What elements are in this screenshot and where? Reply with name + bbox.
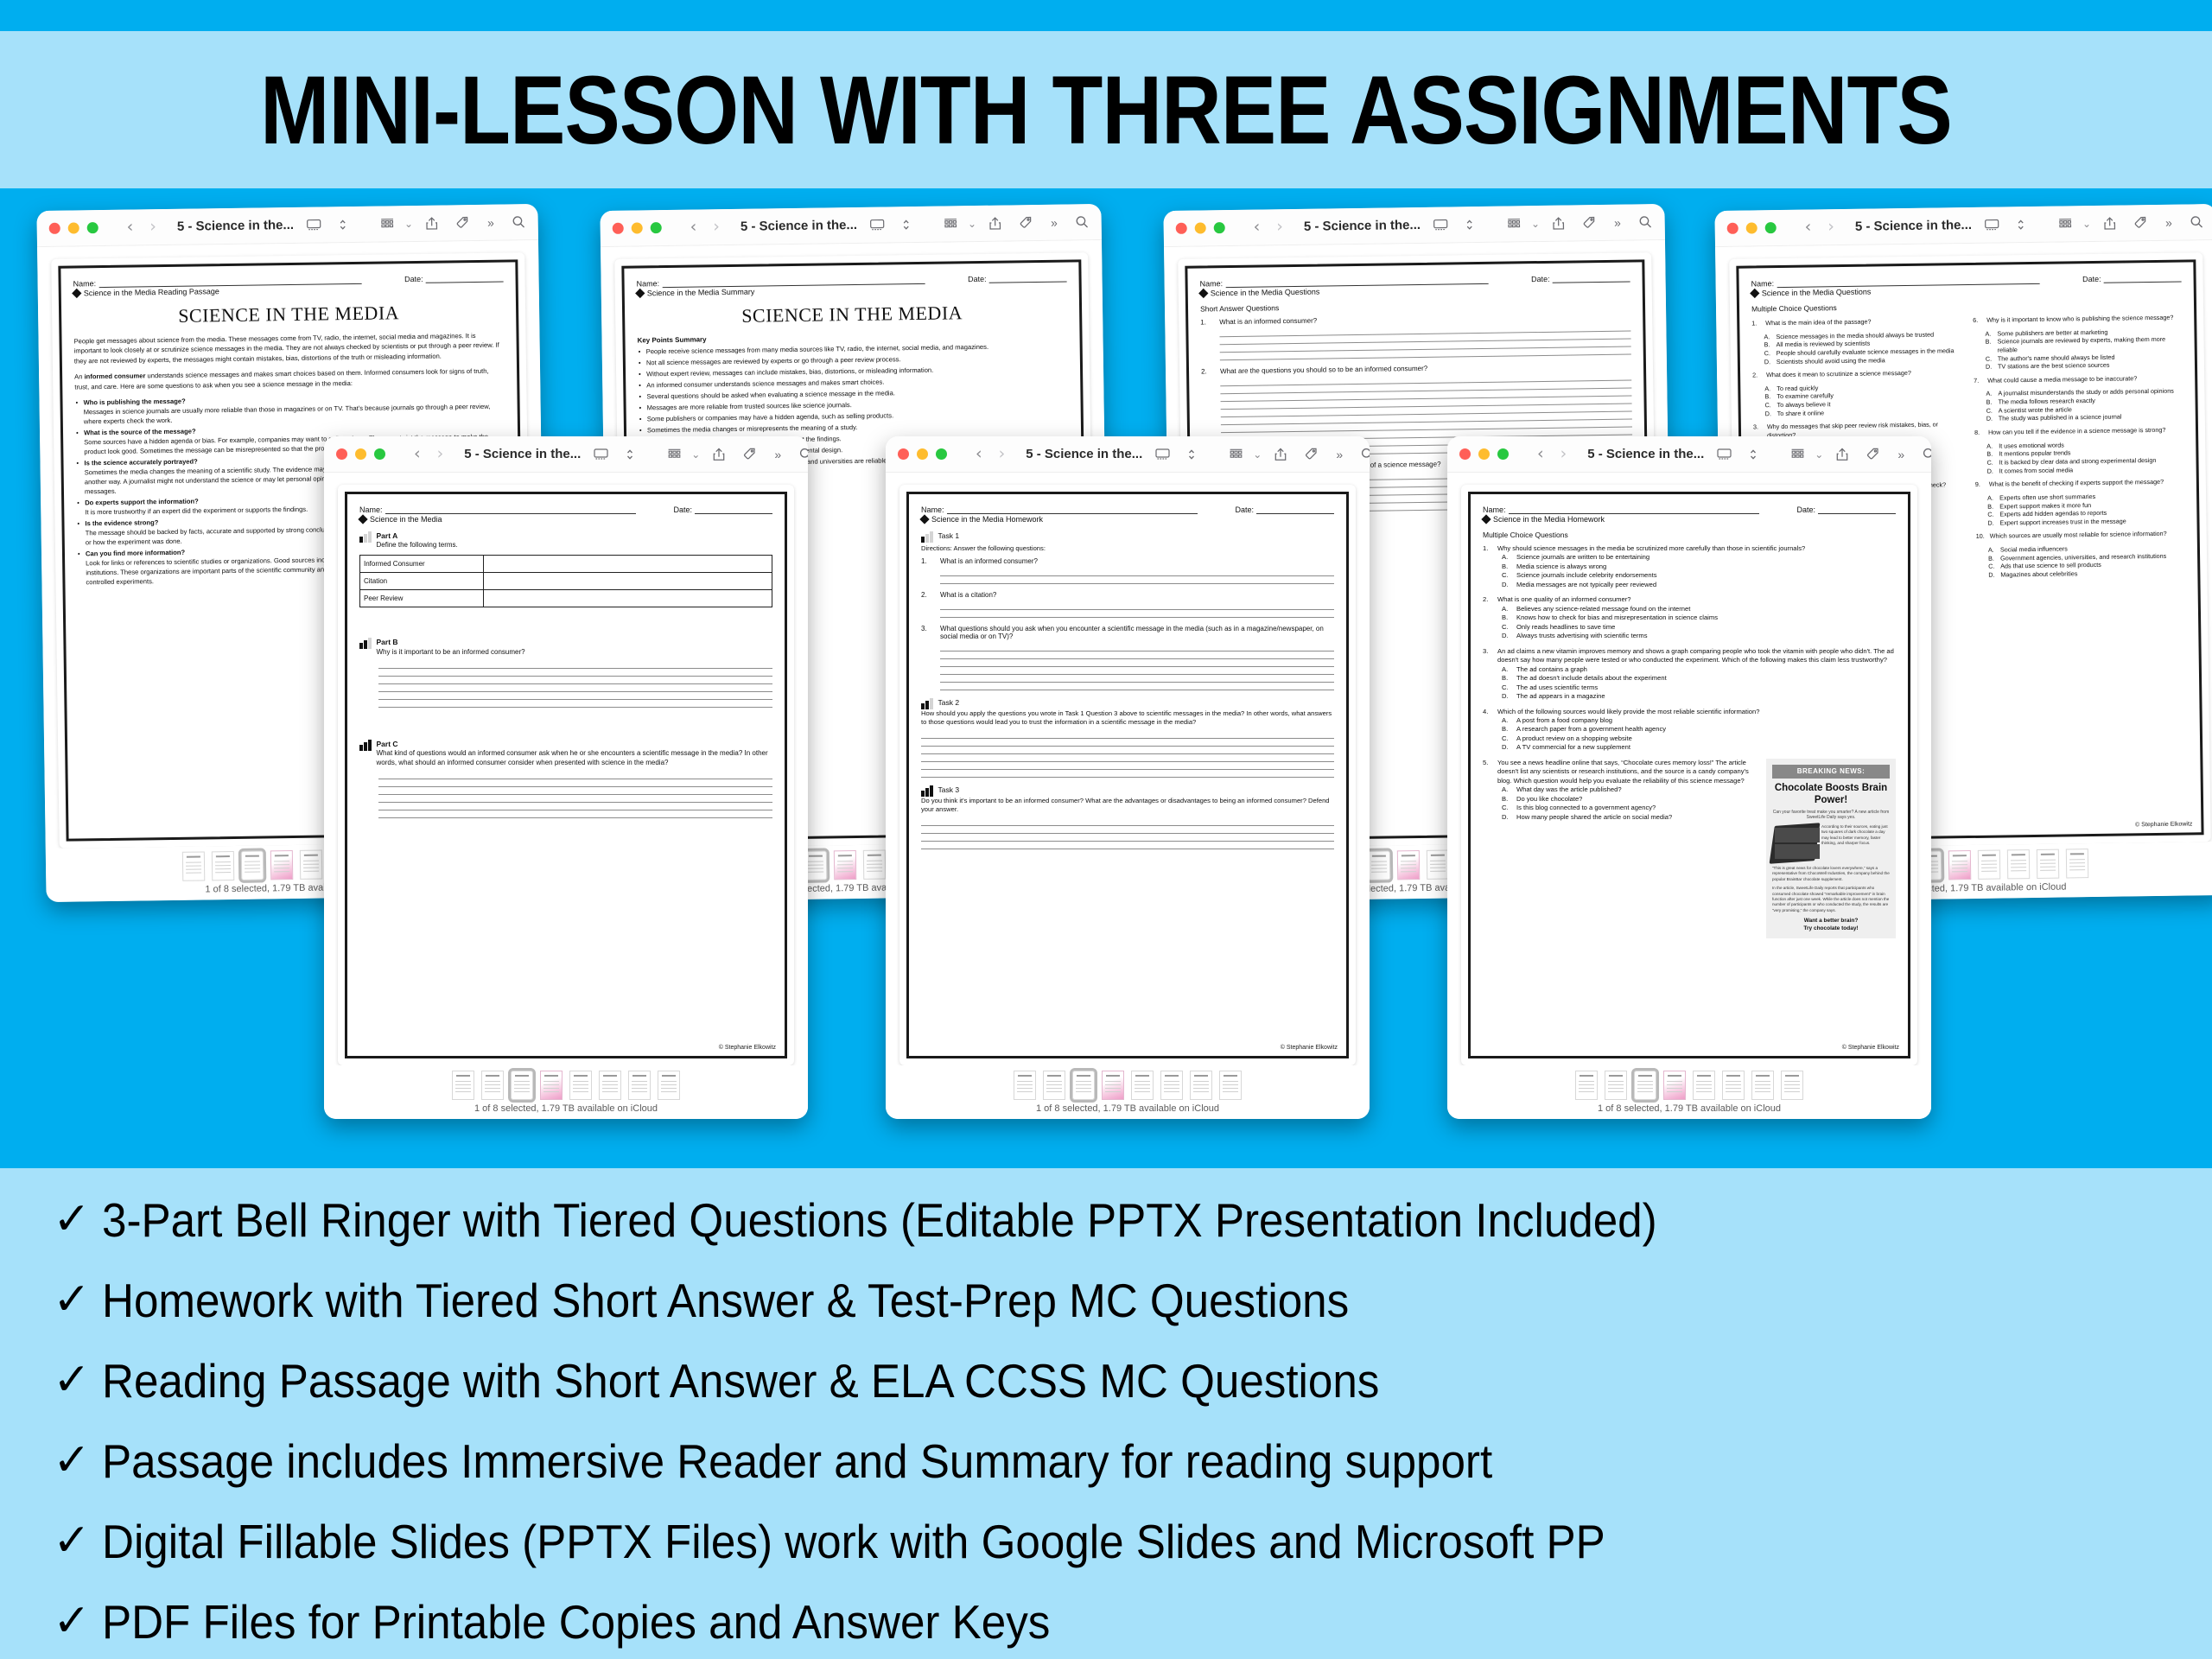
tag-icon[interactable] [451,216,474,229]
page-thumbnail[interactable] [2066,849,2088,878]
news-body-2: “This is great news for chocolate lovers… [1772,866,1890,882]
back-button[interactable]: ‹ [686,219,702,235]
mc-option: B.The ad doesn't include details about t… [1483,674,1896,683]
page-thumbnail[interactable] [300,850,322,880]
part-c-heading: Part CWhat kind of questions would an in… [359,740,772,768]
forward-button[interactable]: › [1823,219,1839,235]
page-shadow: Name:Date:Science in the MediaPart ADefi… [338,485,794,1065]
diamond-bullet-icon [72,289,81,298]
window-statusbar: 1 of 8 selected, 1.79 TB available on iC… [1447,1065,1931,1119]
term-label: Informed Consumer [360,556,484,573]
page-thumbnail[interactable] [241,850,264,880]
page-thumbnail[interactable] [1014,1071,1036,1100]
chevron-down-icon[interactable]: ⌄ [1531,218,1540,230]
check-icon: ✓ [41,1510,102,1571]
page-thumbnail[interactable] [1781,1071,1803,1100]
page-thumbnail[interactable] [1427,850,1449,880]
page-thumbnail[interactable] [1102,1071,1124,1100]
question-item: 1.What is an informed consumer? [921,557,1334,565]
answer-lines [378,772,772,818]
back-button[interactable]: ‹ [1249,219,1265,235]
page-thumbnail[interactable] [1190,1071,1212,1100]
maximize-button[interactable] [374,448,385,460]
markup-toolbar-icon[interactable] [1150,448,1175,461]
tag-icon[interactable] [1014,216,1038,229]
back-button[interactable]: ‹ [971,446,987,462]
task-3-heading: Task 3 [921,785,1334,797]
mc-question: 2.What is one quality of an informed con… [1483,595,1896,640]
diamond-bullet-icon [635,289,645,298]
forward-button[interactable]: › [995,446,1010,462]
close-button[interactable] [898,448,909,460]
close-button[interactable] [1176,223,1187,234]
task-1-heading: Task 1 [921,531,1334,543]
news-body-1: According to their sources, eating just … [1821,824,1890,862]
page-shadow: Name:Date:Science in the Media HomeworkT… [899,485,1356,1065]
mc-option: D.A TV commercial for a new supplement [1483,743,1896,752]
feature-item: ✓Homework with Tiered Short Answer & Tes… [41,1269,2212,1350]
mc-column-right: 6.Why is it important to know who is pub… [1973,314,2185,585]
view-mode-icon[interactable] [1786,448,1809,460]
document-page: Name:Date:Science in the Media HomeworkM… [1468,492,1910,1058]
page-thumbnail[interactable] [834,850,856,880]
page-thumbnail[interactable] [1072,1071,1095,1100]
definitions-table: Informed ConsumerCitationPeer Review [359,555,772,607]
mc-option: B.Do you like chocolate? [1483,795,1758,804]
view-mode-stepper-icon[interactable] [1183,448,1200,461]
part-b-heading: Part BWhy is it important to be an infor… [359,638,772,657]
date-label: Date: [2082,275,2101,283]
name-label: Name: [1483,505,1506,514]
diamond-bullet-icon [919,514,929,524]
tag-icon[interactable] [738,448,761,461]
copyright-text: © Stephanie Elkowitz [1281,1045,1338,1051]
minimize-button[interactable] [1478,448,1490,460]
diamond-bullet-icon [1198,289,1208,298]
view-mode-icon[interactable] [1503,218,1526,229]
mc-option: C.The ad uses scientific terms [1483,683,1896,692]
section-heading: Multiple Choice Questions [1483,531,1896,539]
search-icon[interactable] [1071,215,1094,228]
page-thumbnail[interactable] [569,1071,592,1100]
mc-option: C.Is this blog connected to a government… [1483,804,1758,812]
task-directions: Directions: Answer the following questio… [921,544,1334,552]
minimize-button[interactable] [917,448,928,460]
search-icon[interactable] [2185,215,2209,228]
page-thumbnail[interactable] [1043,1071,1065,1100]
news-headline: Chocolate Boosts Brain Power! [1772,783,1890,805]
doc-subtitle: Science in the Media Homework [1483,515,1896,524]
answer-lines [1219,324,1630,361]
share-icon[interactable] [1831,448,1853,461]
share-icon[interactable] [984,216,1007,230]
page-thumbnail[interactable] [658,1071,680,1100]
task-2-heading: Task 2 [921,698,1334,709]
maximize-button[interactable] [1765,222,1777,233]
feature-list: ✓3-Part Bell Ringer with Tiered Question… [0,1168,2212,1659]
mc-question: 5.You see a news headline online that sa… [1483,759,1758,822]
minimize-button[interactable] [1195,222,1206,233]
forward-button[interactable]: › [1556,446,1572,462]
window-title: 5 - Science in the... [1855,218,1972,234]
markup-toolbar-icon[interactable] [1712,448,1737,461]
feature-text: Homework with Tiered Short Answer & Test… [102,1269,1349,1332]
close-button[interactable] [1727,223,1738,234]
page-thumbnail[interactable] [1663,1071,1686,1100]
thumbnail-strip[interactable] [1575,1071,1803,1100]
view-mode-stepper-icon[interactable] [334,219,352,231]
term-row: Informed Consumer [360,556,772,573]
back-button[interactable]: ‹ [410,446,425,462]
doc-subtitle: Science in the Media [359,515,772,524]
window-titlebar[interactable]: ‹›5 - Science in the...⌄» [324,436,808,473]
term-label: Peer Review [360,590,484,607]
thumbnail-strip[interactable] [1014,1071,1242,1100]
chevron-down-icon[interactable]: ⌄ [1253,448,1262,461]
search-icon[interactable] [1634,215,1657,228]
markup-toolbar-icon[interactable] [588,448,613,461]
check-icon: ✓ [41,1591,102,1651]
page-title: MINI-LESSON WITH THREE ASSIGNMENTS [155,31,2057,188]
task-prompt: Do you think it's important to be an inf… [921,797,1334,815]
check-icon: ✓ [41,1189,102,1249]
date-label: Date: [968,275,987,283]
name-date-row: Name:Date: [359,505,772,514]
feature-item: ✓Digital Fillable Slides (PPTX Files) wo… [41,1510,2212,1591]
mc-option: A.A post from a food company blog [1483,716,1896,725]
diamond-bullet-icon [1750,289,1759,298]
close-button[interactable] [613,223,624,234]
mc-option: A.The ad contains a graph [1483,665,1896,674]
overflow-icon[interactable]: » [1331,448,1348,461]
mc-option: B.Media science is always wrong [1483,563,1896,571]
feature-item: ✓3-Part Bell Ringer with Tiered Question… [41,1189,2212,1269]
tag-icon[interactable] [1578,216,1601,229]
mc-question: 9.What is the benefit of checking if exp… [1975,478,2184,489]
question-item: 2.What is a citation? [921,591,1334,599]
minimize-button[interactable] [355,448,366,460]
share-icon[interactable] [1548,216,1570,230]
answer-lines [378,661,772,708]
page-thumbnail[interactable] [1160,1071,1183,1100]
section-heading: Short Answer Questions [1200,299,1630,314]
status-text: 1 of 8 selected, 1.79 TB available on iC… [1036,1103,1219,1114]
page-thumbnail[interactable] [599,1071,621,1100]
chocolate-bar-image [1772,824,1817,862]
mc-question: 2.What does it mean to scrutinize a scie… [1752,368,1961,379]
window-title: 5 - Science in the... [464,447,581,461]
mc-option: B.Knows how to check for bias and misrep… [1483,613,1896,622]
search-icon[interactable] [507,215,531,228]
page-thumbnail[interactable] [1368,850,1390,880]
overflow-icon[interactable]: » [2160,215,2177,229]
feature-item: ✓Passage includes Immersive Reader and S… [41,1430,2212,1510]
copyright-text: © Stephanie Elkowitz [1842,1045,1899,1051]
markup-toolbar-icon[interactable] [302,219,327,231]
forward-button[interactable]: › [709,219,724,235]
mc-question: 3.An ad claims a new vitamin improves me… [1483,647,1896,702]
close-button[interactable] [336,448,347,460]
chevron-down-icon[interactable]: ⌄ [691,448,700,461]
passage-paragraph: People get messages about science from t… [73,331,504,366]
minimize-button[interactable] [632,222,643,233]
mc-option: B.Science journals are reviewed by exper… [1974,335,2183,355]
preview-window-bell-ringer[interactable]: ‹›5 - Science in the...⌄»Name:Date:Scien… [324,436,808,1119]
name-label: Name: [1200,279,1224,288]
mc-option: A.Believes any science-related message f… [1483,605,1896,613]
news-body-3: In the article, SweetLife Daily reports … [1772,886,1890,913]
page-thumbnail[interactable] [452,1071,474,1100]
name-label: Name: [359,505,383,514]
view-mode-stepper-icon[interactable] [1461,219,1478,231]
mc-question: 8.How can you tell if the evidence in a … [1974,426,2183,437]
doc-title: SCIENCE IN THE MEDIA [73,301,504,329]
page-thumbnail[interactable] [212,851,234,880]
window-title: 5 - Science in the... [1026,447,1142,461]
page-thumbnail[interactable] [1634,1071,1656,1100]
answer-lines [940,644,1334,690]
forward-button[interactable]: › [145,219,161,235]
status-text: 1 of 8 selected, 1.79 TB available on iC… [474,1103,658,1114]
thumbnail-strip[interactable] [452,1071,680,1100]
date-label: Date: [404,275,423,283]
page-thumbnail[interactable] [1575,1071,1598,1100]
bar-chart-icon [359,638,372,649]
page-thumbnail[interactable] [1693,1071,1715,1100]
check-icon: ✓ [41,1269,102,1330]
news-subhead: Can your favorite treat make you smarter… [1772,810,1890,821]
close-button[interactable] [1459,448,1471,460]
answer-lines [921,818,1334,849]
chevron-down-icon[interactable]: ⌄ [1815,448,1823,461]
news-clipping: BREAKING NEWS:Chocolate Boosts Brain Pow… [1766,759,1896,938]
view-mode-icon[interactable] [376,218,399,229]
top-accent-band [0,0,2212,31]
maximize-button[interactable] [1214,222,1225,233]
mc-option: D.Always trusts advertising with scienti… [1483,632,1896,640]
page-thumbnail[interactable] [540,1071,563,1100]
name-label: Name: [1751,279,1775,288]
answer-lines [940,569,1334,584]
window-titlebar[interactable]: ‹›5 - Science in the...⌄» [1447,436,1931,473]
mc-question: 1.What is the main idea of the passage? [1751,316,1961,327]
status-text: 1 of 8 selected, 1.79 TB available on iC… [1598,1103,1781,1114]
mc-option: C.Only reads headlines to save time [1483,623,1896,632]
mc-question: 4.Which of the following sources would l… [1483,708,1896,753]
page-thumbnail[interactable] [511,1071,533,1100]
document-viewport[interactable]: Name:Date:Science in the MediaPart ADefi… [324,473,808,1065]
document-page: Name:Date:Science in the Media HomeworkT… [906,492,1349,1058]
part-a-heading: Part ADefine the following terms. [359,531,772,550]
page-thumbnail[interactable] [1722,1071,1745,1100]
window-title: 5 - Science in the... [1304,218,1421,234]
passage-paragraph: An informed consumer understands science… [74,366,505,392]
feature-text: 3-Part Bell Ringer with Tiered Questions… [102,1189,1657,1251]
document-viewport[interactable]: Name:Date:Science in the Media HomeworkM… [1447,473,1931,1065]
mc-question: 7.What could cause a media message to be… [1974,373,2183,385]
page-thumbnail[interactable] [1948,850,1971,880]
name-label: Name: [921,505,944,514]
mc-option: D.The ad appears in a magazine [1483,692,1896,701]
page-thumbnail[interactable] [2007,849,2030,879]
feature-item: ✓PDF Files for Printable Copies and Answ… [41,1591,2212,1659]
tag-icon[interactable] [1861,448,1885,461]
name-date-row: Name:Date: [1483,505,1896,514]
term-row: Citation [360,573,772,590]
view-mode-icon[interactable] [1224,448,1248,460]
check-icon: ✓ [41,1350,102,1410]
view-mode-stepper-icon[interactable] [1745,448,1762,461]
page-thumbnail[interactable] [1605,1071,1627,1100]
page-thumbnail[interactable] [863,850,886,880]
page-thumbnail[interactable] [628,1071,651,1100]
term-row: Peer Review [360,590,772,607]
question-item: 3.What questions should you ask when you… [921,625,1334,640]
page-thumbnail[interactable] [1751,1071,1774,1100]
tag-icon[interactable] [2129,216,2152,229]
minimize-button[interactable] [1746,222,1758,233]
news-banner: BREAKING NEWS: [1772,765,1890,779]
view-mode-icon[interactable] [939,218,963,229]
markup-toolbar-icon[interactable] [1428,219,1453,231]
feature-text: Digital Fillable Slides (PPTX Files) wor… [102,1510,1605,1573]
chevron-down-icon[interactable]: ⌄ [404,218,413,230]
markup-toolbar-icon[interactable] [1980,219,2005,231]
bar-chart-icon [921,785,933,797]
forward-button[interactable]: › [1272,219,1287,235]
maximize-button[interactable] [87,222,99,233]
page-thumbnail[interactable] [1978,850,2000,880]
page-thumbnail[interactable] [1131,1071,1154,1100]
bar-chart-icon [921,698,933,709]
copyright-text: © Stephanie Elkowitz [2135,821,2192,828]
view-mode-stepper-icon[interactable] [621,448,639,461]
mc-option: B.A research paper from a government hea… [1483,725,1896,734]
document-page: Name:Date:Science in the MediaPart ADefi… [345,492,787,1058]
mc-option: A.What day was the article published? [1483,785,1758,794]
page-thumbnail[interactable] [1397,850,1420,880]
maximize-button[interactable] [936,448,947,460]
date-label: Date: [1531,275,1550,283]
task-prompt: How should you apply the questions you w… [921,709,1334,728]
view-mode-icon[interactable] [663,448,686,460]
mc-option: C.Science journals include celebrity end… [1483,571,1896,580]
back-button[interactable]: ‹ [1801,219,1816,235]
doc-title: SCIENCE IN THE MEDIA [637,301,1067,329]
diamond-bullet-icon [1481,514,1491,524]
term-label: Citation [360,573,484,590]
window-statusbar: 1 of 8 selected, 1.79 TB available on iC… [324,1065,808,1119]
window-title: 5 - Science in the... [1587,447,1704,461]
doc-subtitle: Science in the Media Homework [921,515,1334,524]
window-titlebar[interactable]: ‹›5 - Science in the...⌄» [886,436,1370,473]
share-icon[interactable] [2099,216,2121,230]
mc-question: 10.Which sources are usually most reliab… [1976,530,2185,541]
feature-item: ✓Reading Passage with Short Answer & ELA… [41,1350,2212,1430]
chevron-down-icon[interactable]: ⌄ [968,218,976,230]
news-cta: Want a better brain?Try chocolate today! [1772,918,1890,932]
preview-window-homework-mc[interactable]: ‹›5 - Science in the...⌄»Name:Date:Scien… [1447,436,1931,1119]
minimize-button[interactable] [68,222,79,233]
page-shadow: Name:Date:Science in the Media HomeworkM… [1461,485,1917,1065]
preview-window-homework[interactable]: ‹›5 - Science in the...⌄»Name:Date:Scien… [886,436,1370,1119]
name-label: Name: [73,279,97,288]
tag-icon[interactable] [1300,448,1323,461]
back-button[interactable]: ‹ [123,219,138,235]
bar-chart-icon [359,531,372,543]
document-viewport[interactable]: Name:Date:Science in the Media HomeworkT… [886,473,1370,1065]
mc-option: A.Science journals are written to be ent… [1483,553,1896,562]
share-icon[interactable] [1269,448,1292,461]
page-thumbnail[interactable] [1219,1071,1242,1100]
term-answer-cell[interactable] [484,556,772,573]
bar-chart-icon [359,740,372,751]
name-label: Name: [637,279,660,288]
copyright-text: © Stephanie Elkowitz [719,1045,776,1051]
mc-option: D.How many people shared the article on … [1483,813,1758,822]
date-label: Date: [673,505,692,514]
view-mode-stepper-icon[interactable] [2012,219,2030,231]
date-label: Date: [1235,505,1254,514]
bar-chart-icon [921,531,933,543]
forward-button[interactable]: › [433,446,448,462]
date-label: Date: [1796,505,1815,514]
markup-toolbar-icon[interactable] [865,219,890,231]
answer-lines [921,731,1334,778]
search-icon[interactable] [1356,448,1370,461]
feature-text: Reading Passage with Short Answer & ELA … [102,1350,1379,1412]
back-button[interactable]: ‹ [1533,446,1548,462]
answer-lines [940,602,1334,618]
mc-option: D.Media messages are not typically peer … [1483,581,1896,589]
check-icon: ✓ [41,1430,102,1491]
share-icon[interactable] [421,216,443,230]
page-thumbnail[interactable] [481,1071,504,1100]
chevron-down-icon[interactable]: ⌄ [2082,218,2091,230]
mc-question: 6.Why is it important to know who is pub… [1973,314,2182,325]
term-answer-cell[interactable] [484,573,772,590]
view-mode-stepper-icon[interactable] [898,219,915,231]
search-icon[interactable] [794,448,808,461]
page-thumbnail[interactable] [182,851,205,880]
name-date-row: Name:Date: [921,505,1334,514]
overflow-icon[interactable]: » [482,215,499,229]
view-mode-icon[interactable] [2054,218,2077,229]
feature-text: PDF Files for Printable Copies and Answe… [102,1591,1050,1653]
mc-question: 1.Why should science messages in the med… [1483,544,1896,589]
search-icon[interactable] [1917,448,1931,461]
mc-option: C.A product review on a shopping website [1483,734,1896,743]
overflow-icon[interactable]: » [1046,215,1063,229]
feature-text: Passage includes Immersive Reader and Su… [102,1430,1492,1492]
section-heading: Multiple Choice Questions [1751,299,2182,314]
share-icon[interactable] [708,448,730,461]
overflow-icon[interactable]: » [1892,448,1910,461]
window-title: 5 - Science in the... [741,218,857,234]
maximize-button[interactable] [651,222,662,233]
page-thumbnail[interactable] [2037,849,2059,879]
overflow-icon[interactable]: » [769,448,786,461]
diamond-bullet-icon [358,514,367,524]
page-thumbnail[interactable] [270,850,293,880]
window-statusbar: 1 of 8 selected, 1.79 TB available on iC… [886,1065,1370,1119]
overflow-icon[interactable]: » [1609,215,1626,229]
term-answer-cell[interactable] [484,590,772,607]
window-title: 5 - Science in the... [177,218,294,234]
close-button[interactable] [49,223,60,234]
maximize-button[interactable] [1497,448,1509,460]
